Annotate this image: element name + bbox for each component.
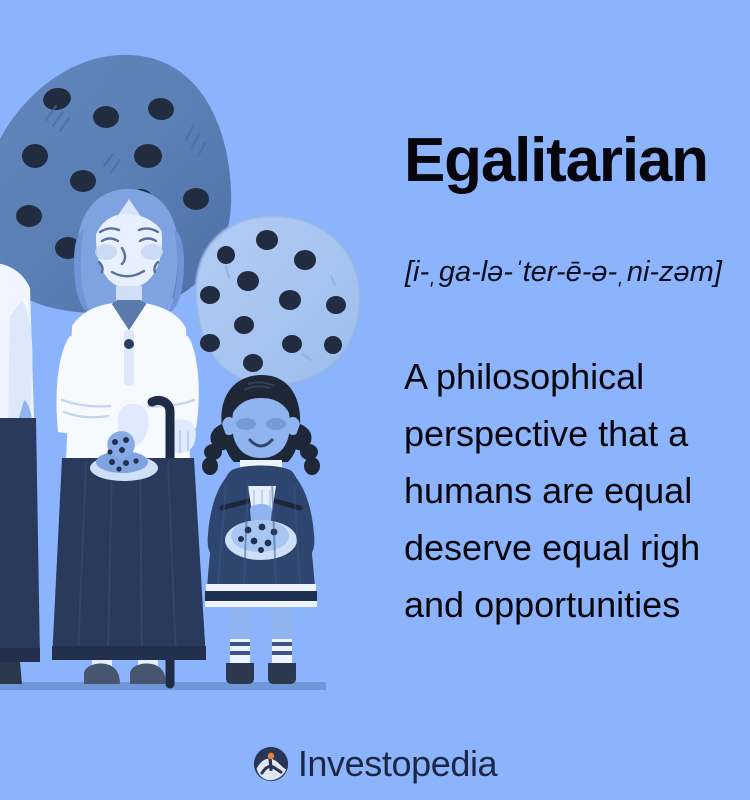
definition-line-3: humans are equal [404, 462, 750, 519]
cookie-small [196, 216, 360, 385]
term-title: Egalitarian [404, 130, 708, 192]
definition-card: Egalitarian [i-ˌga-lə-ˈter-ē-ə-ˌni-zəm] … [0, 0, 750, 800]
definition-line-1: A philosophical [404, 348, 750, 405]
definition-line-5: and opportunities [404, 576, 750, 633]
illustration-svg [0, 0, 400, 700]
definition-text: A philosophical perspective that a human… [404, 348, 750, 633]
cookie-held-girl [225, 520, 297, 560]
definition-text-column: Egalitarian [i-ˌga-lə-ˈter-ē-ə-ˌni-zəm] … [404, 0, 750, 700]
illustration [0, 0, 400, 700]
pronunciation: [i-ˌga-lə-ˈter-ē-ə-ˌni-zəm] [405, 258, 722, 287]
definition-line-2: perspective that a [404, 405, 750, 462]
investopedia-logo: Investopedia [0, 746, 750, 782]
definition-line-4: deserve equal righ [404, 519, 750, 576]
investopedia-wordmark: Investopedia [298, 746, 497, 782]
investopedia-logo-icon [253, 746, 289, 782]
figure-elderly-woman [52, 189, 206, 684]
